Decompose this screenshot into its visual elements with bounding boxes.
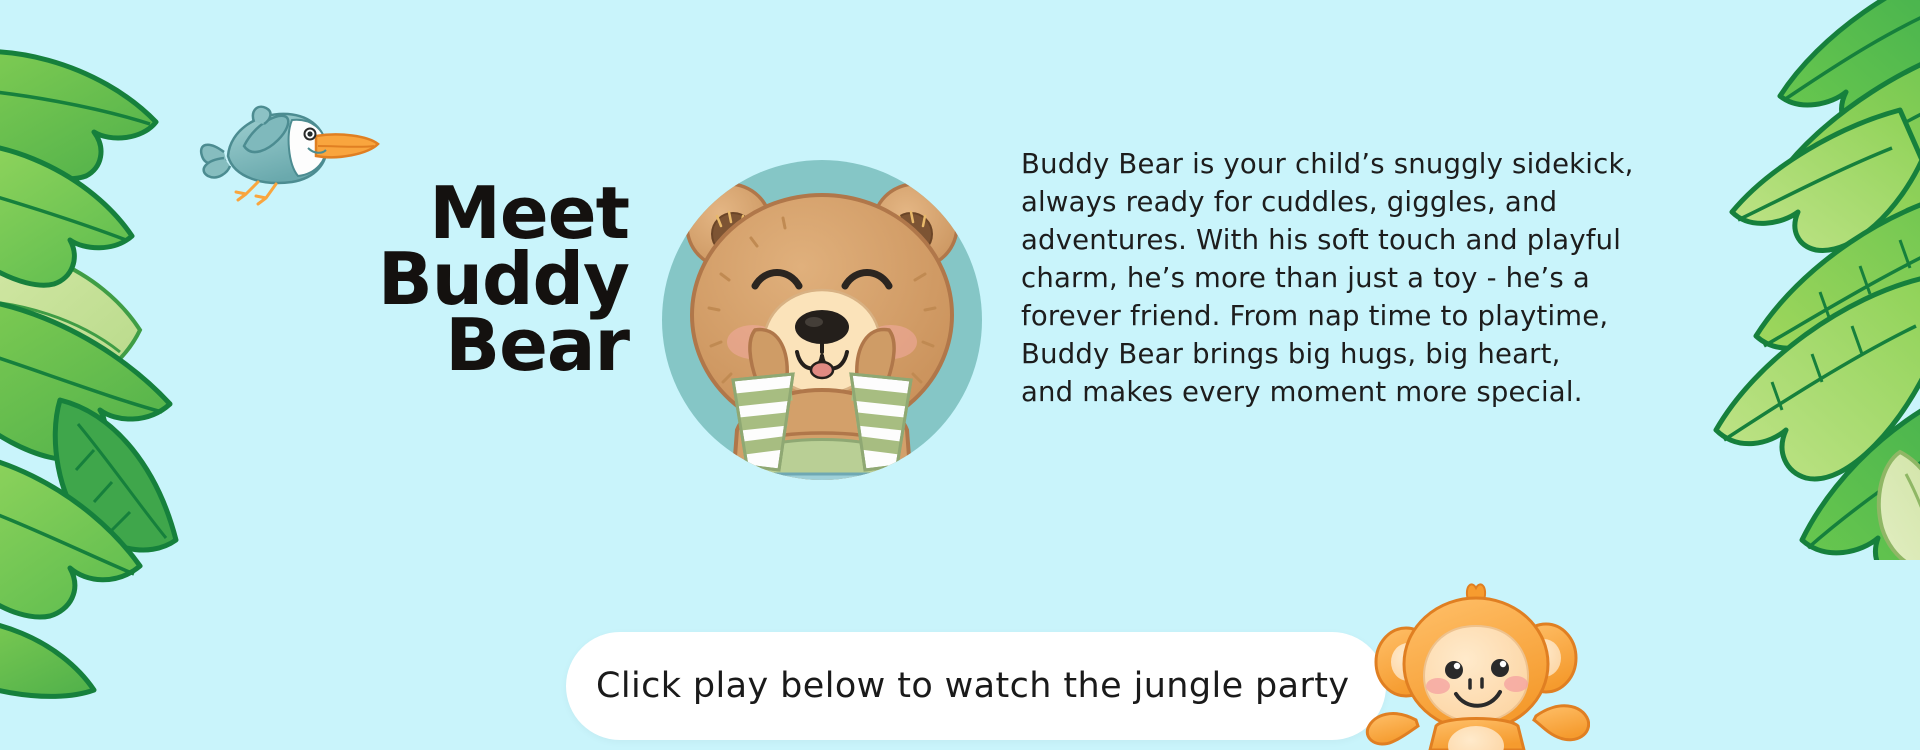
- description-line-6: Buddy Bear brings big hugs, big heart,: [1021, 336, 1551, 374]
- heading-line-3: Bear: [369, 312, 629, 378]
- description-line-7: and makes every moment more special.: [1021, 374, 1551, 412]
- description-line-4: charm, he’s more than just a toy - he’s …: [1021, 260, 1551, 298]
- description-line-1: Buddy Bear is your child’s snuggly sidek…: [1021, 146, 1551, 184]
- description-line-2: always ready for cuddles, giggles, and: [1021, 184, 1551, 222]
- page-title: Meet Buddy Bear: [369, 180, 629, 379]
- hero-banner: Meet Buddy Bear: [0, 0, 1920, 750]
- banner-label: Click play below to watch the jungle par…: [566, 666, 1350, 706]
- hero-content-row: Meet Buddy Bear: [0, 140, 1920, 560]
- description-line-5: forever friend. From nap time to playtim…: [1021, 298, 1551, 336]
- description-line-3: adventures. With his soft touch and play…: [1021, 222, 1551, 260]
- waving-monkey-illustration: [1360, 578, 1590, 750]
- call-to-action-banner[interactable]: Click play below to watch the jungle par…: [566, 632, 1386, 740]
- description-text: Buddy Bear is your child’s snuggly sidek…: [1021, 146, 1551, 412]
- buddy-bear-illustration: [637, 130, 1007, 530]
